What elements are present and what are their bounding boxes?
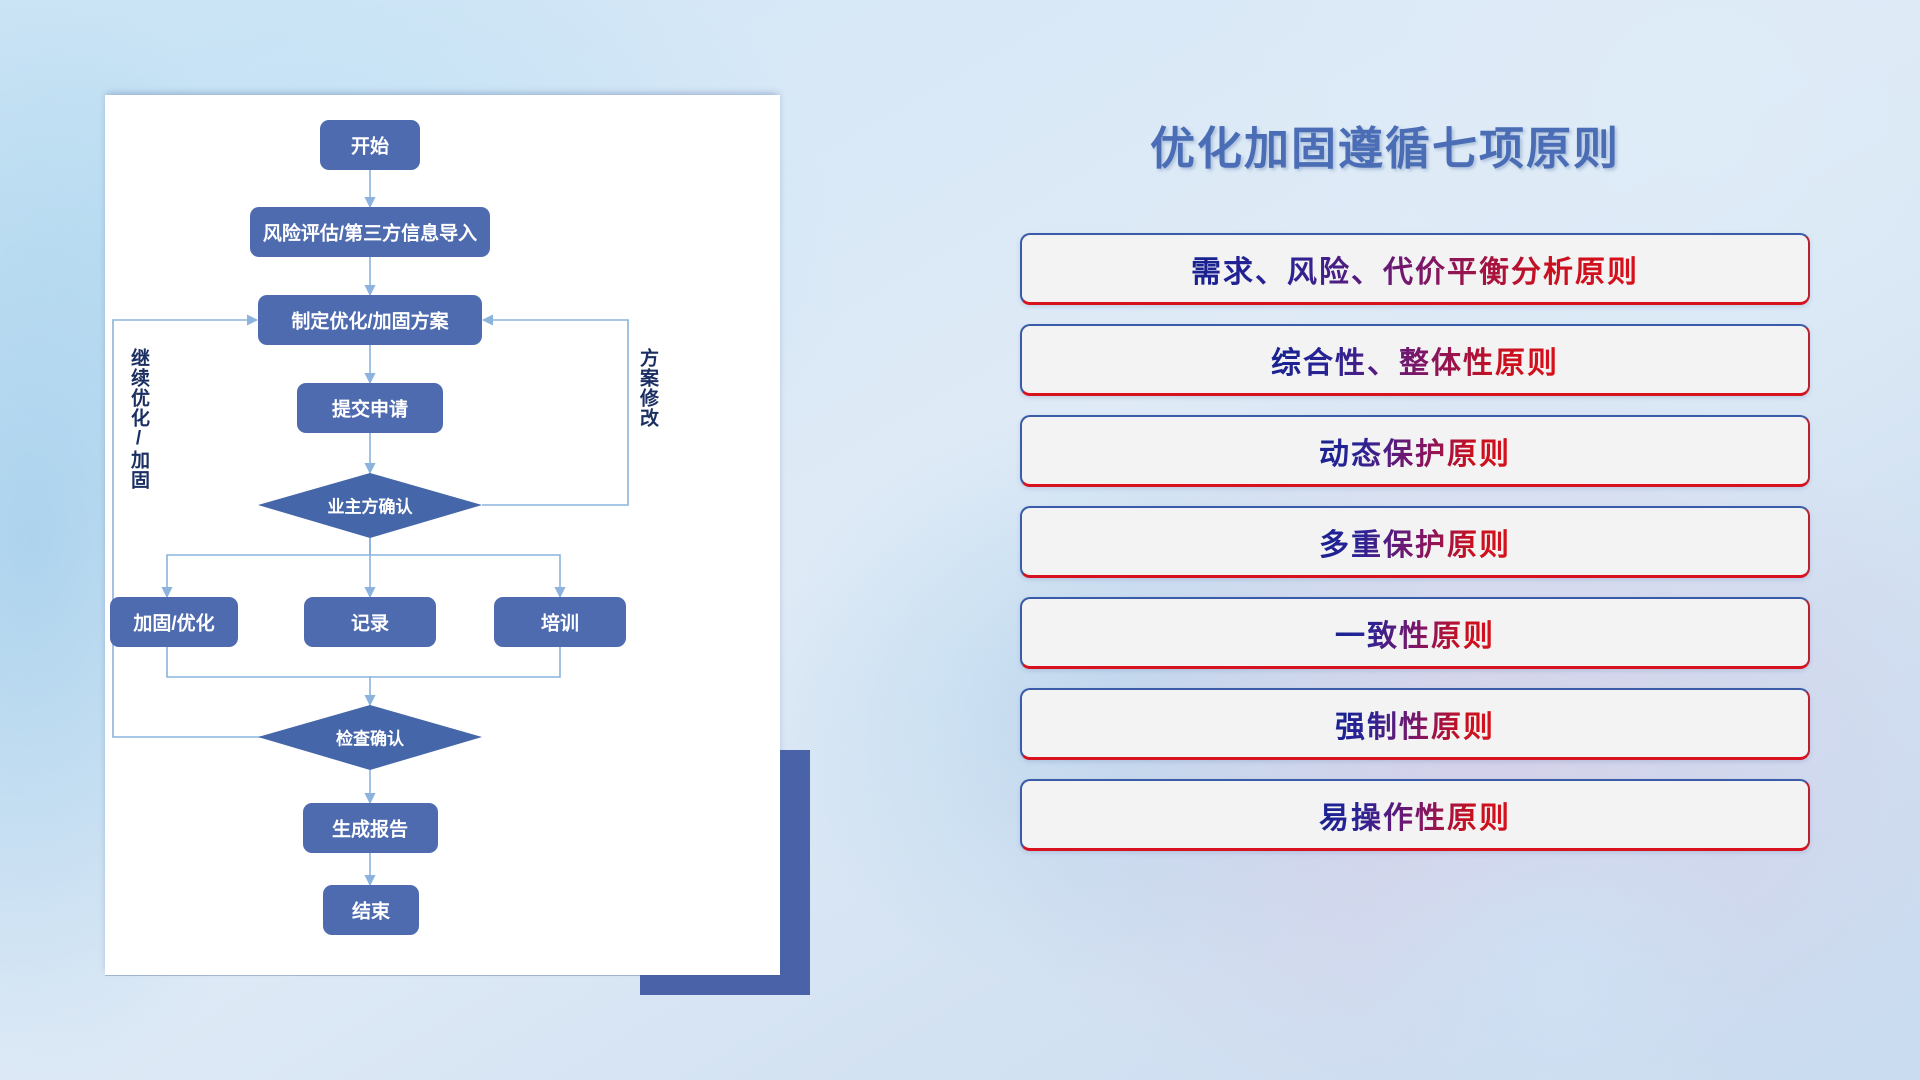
principle-card-6[interactable]: 强制性原则 [1020,688,1810,760]
principle-label-5: 一致性原则 [1335,611,1495,655]
principles-list: 需求、风险、代价平衡分析原则 综合性、整体性原则 动态保护原则 多重保护原则 一… [1020,233,1920,870]
principle-label-1: 需求、风险、代价平衡分析原则 [1191,247,1639,291]
principle-card-4[interactable]: 多重保护原则 [1020,506,1810,578]
flowchart-card: 开始 风险评估/第三方信息导入 制定优化/加固方案 提交申请 业主方确认 加固/… [105,95,780,975]
flow-edge-label-continue-optimize: 继续优化/加固 [125,348,152,513]
flowchart-diagram [105,95,780,975]
principles-panel: 优化加固遵循七项原则 需求、风险、代价平衡分析原则 综合性、整体性原则 动态保护… [1020,0,1920,1080]
slide-canvas: 开始 风险评估/第三方信息导入 制定优化/加固方案 提交申请 业主方确认 加固/… [0,0,1920,1080]
principle-card-2[interactable]: 综合性、整体性原则 [1020,324,1810,396]
principle-label-6: 强制性原则 [1335,702,1495,746]
page-title: 优化加固遵循七项原则 [1150,112,1620,177]
principle-label-2: 综合性、整体性原则 [1271,338,1559,382]
principle-card-7[interactable]: 易操作性原则 [1020,779,1810,851]
principle-card-5[interactable]: 一致性原则 [1020,597,1810,669]
flow-edge-label-plan-revision: 方案修改 [634,348,661,460]
principle-label-7: 易操作性原则 [1319,793,1511,837]
principle-label-3: 动态保护原则 [1319,429,1511,473]
principle-card-1[interactable]: 需求、风险、代价平衡分析原则 [1020,233,1810,305]
principle-card-3[interactable]: 动态保护原则 [1020,415,1810,487]
principle-label-4: 多重保护原则 [1319,520,1511,564]
